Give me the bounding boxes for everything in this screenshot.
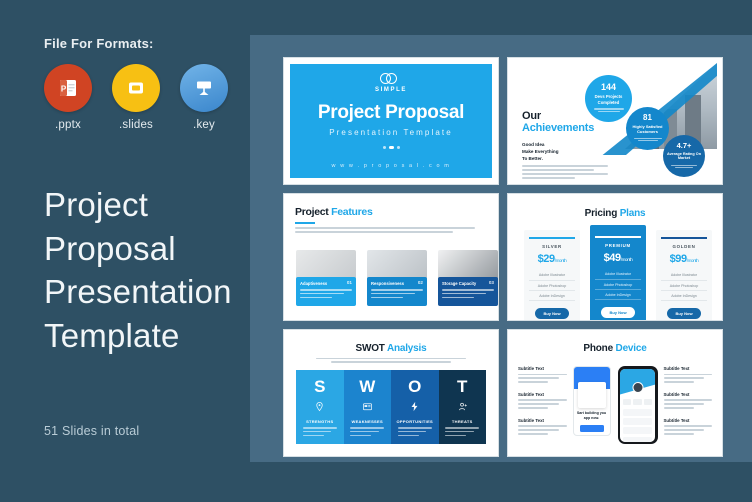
plan-period: /month [555, 258, 567, 263]
placeholder-lines [518, 374, 567, 383]
format-item-key[interactable]: .key [180, 64, 228, 131]
circles-logo-icon [380, 73, 402, 84]
text-block: Subtitle Text [518, 418, 567, 435]
pricing-heading-black: Pricing [585, 208, 618, 219]
buy-now-button[interactable]: Buy Now [601, 307, 634, 317]
preview-panel: SIMPLE Project Proposal Presentation Tem… [250, 35, 752, 462]
features-heading-blue: Features [331, 206, 372, 218]
stat-caption: Devs Projects Completed [588, 94, 629, 105]
placeholder-lines [350, 427, 384, 439]
hero-line-1: Project [44, 183, 254, 227]
placeholder-lines [664, 399, 713, 408]
powerpoint-icon: P [44, 64, 92, 112]
pricing-card-silver[interactable]: SILVER $29/month Adobe Illustrator Adobe… [524, 230, 580, 321]
placeholder-lines [518, 425, 567, 434]
phone-mockup-flat: Sart building you app now. [573, 366, 611, 436]
swot-column-list: S STRENGTHS W WEAK [296, 370, 486, 444]
card-top-rule [595, 236, 641, 238]
slide-thumbnail-phone[interactable]: Phone Device Subtitle Text Subtitle Text… [507, 329, 723, 457]
features-heading-black: Project [295, 206, 329, 218]
format-label-key: .key [180, 119, 228, 131]
cover-body: SIMPLE Project Proposal Presentation Tem… [290, 64, 492, 178]
slide-thumbnail-pricing[interactable]: Pricing Plans SILVER $29/month Adobe Ill… [507, 193, 723, 321]
slide-thumbnail-cover[interactable]: SIMPLE Project Proposal Presentation Tem… [283, 57, 499, 185]
page-title: Project Proposal Presentation Template [44, 183, 254, 357]
text-block: Subtitle Text [664, 366, 713, 383]
card-icon [362, 401, 373, 412]
feature-title: Storage Capacity [442, 281, 494, 286]
swot-name: OPPORTUNITIES [396, 419, 433, 424]
hero-line-4: Template [44, 314, 254, 358]
svg-text:P: P [61, 85, 67, 94]
phone-heading-blue: Device [616, 343, 647, 354]
slide-thumbnail-swot[interactable]: SWOT Analysis S STRENGTHS W [283, 329, 499, 457]
achievements-heading-line2: Achievements [522, 122, 594, 134]
avatar [632, 382, 643, 393]
feature-title: Responsiveness [371, 281, 423, 286]
formats-title: File For Formats: [44, 36, 254, 51]
plan-period: /month [621, 257, 633, 262]
swot-name: WEAKNESSES [352, 419, 383, 424]
phone-screen [620, 369, 655, 442]
buy-now-button[interactable]: Buy Now [667, 308, 700, 318]
swot-column-threats[interactable]: T THREATS [439, 370, 487, 444]
feature-number: 01 [347, 280, 352, 285]
list-rows [623, 409, 652, 442]
swot-column-strengths[interactable]: S STRENGTHS [296, 370, 344, 444]
app-card [578, 382, 606, 408]
plan-period: /month [687, 258, 699, 263]
feature-card[interactable]: 01 Adaptiveness [296, 250, 356, 306]
app-cta-button[interactable] [580, 425, 604, 432]
phone-heading: Phone Device [508, 343, 722, 354]
stat-caption: Highly Satisfied Customers [629, 124, 666, 134]
format-item-pptx[interactable]: P .pptx [44, 64, 92, 131]
placeholder-lines [442, 289, 494, 298]
block-title: Subtitle Text [518, 392, 567, 397]
achievements-heading: Our Achievements [522, 110, 594, 134]
card-top-rule [661, 237, 707, 239]
block-title: Subtitle Text [518, 366, 567, 371]
hero-line-2: Proposal [44, 227, 254, 271]
plan-feature: Adobe Photoshop [661, 281, 707, 291]
stat-number: 81 [643, 114, 652, 122]
placeholder-lines [664, 374, 713, 383]
plan-feature: Adobe Illustrator [529, 271, 575, 281]
user-icon [457, 401, 468, 412]
block-title: Subtitle Text [664, 418, 713, 423]
placeholder-lines [445, 427, 479, 439]
swot-letter: W [359, 378, 375, 395]
phone-mockup-group: Sart building you app now. [573, 366, 658, 444]
phone-notch [631, 366, 645, 369]
placeholder-lines [522, 165, 608, 178]
achievements-bold-text: Good Idea Make Everything To Better. [522, 141, 608, 162]
cover-logo-text: SIMPLE [375, 87, 407, 93]
keynote-icon [180, 64, 228, 112]
achievements-body-text: Good Idea Make Everything To Better. [522, 141, 608, 179]
buy-now-button[interactable]: Buy Now [535, 308, 568, 318]
plan-amount: $29 [538, 253, 555, 265]
pricing-card-golden[interactable]: GOLDEN $99/month Adobe Illustrator Adobe… [656, 230, 712, 321]
text-block: Subtitle Text [518, 392, 567, 409]
format-item-slides[interactable]: .slides [112, 64, 160, 131]
slide-thumbnail-grid: SIMPLE Project Proposal Presentation Tem… [283, 57, 723, 457]
placeholder-lines [634, 136, 662, 143]
block-title: Subtitle Text [518, 418, 567, 423]
placeholder-lines [671, 163, 697, 170]
placeholder-lines [371, 289, 423, 298]
features-heading: Project Features [295, 206, 373, 218]
feature-number: 02 [418, 280, 423, 285]
plan-feature: Adobe InDesign [595, 290, 641, 300]
format-list: P .pptx .slides [44, 64, 254, 131]
plan-price: $49/month [595, 252, 641, 264]
swot-column-weaknesses[interactable]: W WEAKNESSES [344, 370, 392, 444]
card-top-rule [529, 237, 575, 239]
feature-card-list: 01 Adaptiveness 02 Responsiveness [296, 250, 498, 306]
placeholder-lines [664, 425, 713, 434]
plan-amount: $49 [604, 252, 621, 264]
stat-circle-projects: 144 Devs Projects Completed [585, 75, 632, 122]
swot-letter: O [408, 378, 421, 395]
plan-feature: Adobe InDesign [661, 291, 707, 301]
feature-card[interactable]: 03 Storage Capacity [438, 250, 498, 306]
phone-left-text-column: Subtitle Text Subtitle Text Subtitle Tex… [518, 366, 567, 444]
plan-name: PREMIUM [595, 243, 641, 248]
stat-caption: Average Rating On Market [666, 152, 702, 161]
feature-title: Adaptiveness [300, 281, 352, 286]
plan-feature: Adobe InDesign [529, 291, 575, 301]
placeholder-lines [303, 427, 337, 439]
placeholder-lines [398, 427, 432, 439]
text-block: Subtitle Text [664, 418, 713, 435]
swot-name: STRENGTHS [306, 419, 333, 424]
plan-feature: Adobe Illustrator [661, 271, 707, 281]
phone-content-row: Subtitle Text Subtitle Text Subtitle Tex… [518, 366, 712, 444]
plan-price: $99/month [661, 253, 707, 265]
placeholder-lines [295, 227, 475, 235]
pricing-card-premium[interactable]: PREMIUM $49/month Adobe Illustrator Adob… [590, 225, 646, 321]
bolt-icon [409, 401, 420, 412]
swot-letter: T [457, 378, 467, 395]
feature-card[interactable]: 02 Responsiveness [367, 250, 427, 306]
plan-feature: Adobe Illustrator [595, 270, 641, 280]
stat-circle-rating: 4.7+ Average Rating On Market [663, 135, 705, 177]
feature-caption-box: 01 Adaptiveness [296, 277, 356, 306]
google-slides-icon [112, 64, 160, 112]
cover-subtitle: Presentation Template [329, 128, 453, 137]
swot-name: THREATS [452, 419, 473, 424]
plan-amount: $99 [670, 253, 687, 265]
heading-underline [295, 222, 315, 224]
block-title: Subtitle Text [664, 366, 713, 371]
pricing-heading-blue: Plans [620, 208, 646, 219]
phone-heading-black: Phone [583, 343, 613, 354]
cover-url: w w w . p r o p o s a l . c o m [332, 163, 451, 169]
stats-row [623, 399, 652, 405]
phone-right-text-column: Subtitle Text Subtitle Text Subtitle Tex… [664, 366, 713, 444]
swot-letter: S [314, 378, 325, 395]
placeholder-lines [316, 358, 466, 363]
cover-title: Project Proposal [318, 102, 464, 124]
plan-feature: Adobe Photoshop [595, 280, 641, 290]
block-title: Subtitle Text [664, 392, 713, 397]
plan-feature-list: Adobe Illustrator Adobe Photoshop Adobe … [529, 271, 575, 302]
app-cta-text: Sart building you app now. [577, 411, 607, 421]
feature-number: 03 [489, 280, 494, 285]
cover-dots-indicator [383, 146, 400, 149]
plan-feature-list: Adobe Illustrator Adobe Photoshop Adobe … [595, 270, 641, 301]
achievements-heading-line1: Our [522, 110, 594, 122]
plan-price: $29/month [529, 253, 575, 265]
swot-heading-blue: Analysis [387, 343, 427, 354]
placeholder-lines [518, 399, 567, 408]
slide-thumbnail-features[interactable]: Project Features 01 Adaptiveness [283, 193, 499, 321]
slide-count-label: 51 Slides in total [44, 424, 139, 438]
swot-column-opportunities[interactable]: O OPPORTUNITIES [391, 370, 439, 444]
plan-feature-list: Adobe Illustrator Adobe Photoshop Adobe … [661, 271, 707, 302]
swot-heading-black: SWOT [356, 343, 385, 354]
phone-mockup-device [618, 366, 658, 444]
plan-name: SILVER [529, 244, 575, 249]
pricing-heading: Pricing Plans [508, 208, 722, 219]
stat-number: 4.7+ [677, 142, 692, 150]
pin-icon [314, 401, 325, 412]
pricing-card-list: SILVER $29/month Adobe Illustrator Adobe… [524, 230, 712, 321]
placeholder-lines [300, 289, 352, 298]
format-label-slides: .slides [112, 119, 160, 131]
feature-caption-box: 03 Storage Capacity [438, 277, 498, 306]
achievements-body: Our Achievements Good Idea Make Everythi… [513, 63, 717, 179]
format-label-pptx: .pptx [44, 119, 92, 131]
swot-heading: SWOT Analysis [284, 343, 498, 354]
hero-line-3: Presentation [44, 270, 254, 314]
left-info-column: File For Formats: P .pptx [44, 36, 254, 357]
stat-circle-customers: 81 Highly Satisfied Customers [626, 107, 669, 150]
feature-caption-box: 02 Responsiveness [367, 277, 427, 306]
text-block: Subtitle Text [664, 392, 713, 409]
text-block: Subtitle Text [518, 366, 567, 383]
placeholder-lines [594, 107, 624, 114]
slide-thumbnail-achievements[interactable]: Our Achievements Good Idea Make Everythi… [507, 57, 723, 185]
plan-name: GOLDEN [661, 244, 707, 249]
stat-number: 144 [601, 83, 616, 92]
plan-feature: Adobe Photoshop [529, 281, 575, 291]
